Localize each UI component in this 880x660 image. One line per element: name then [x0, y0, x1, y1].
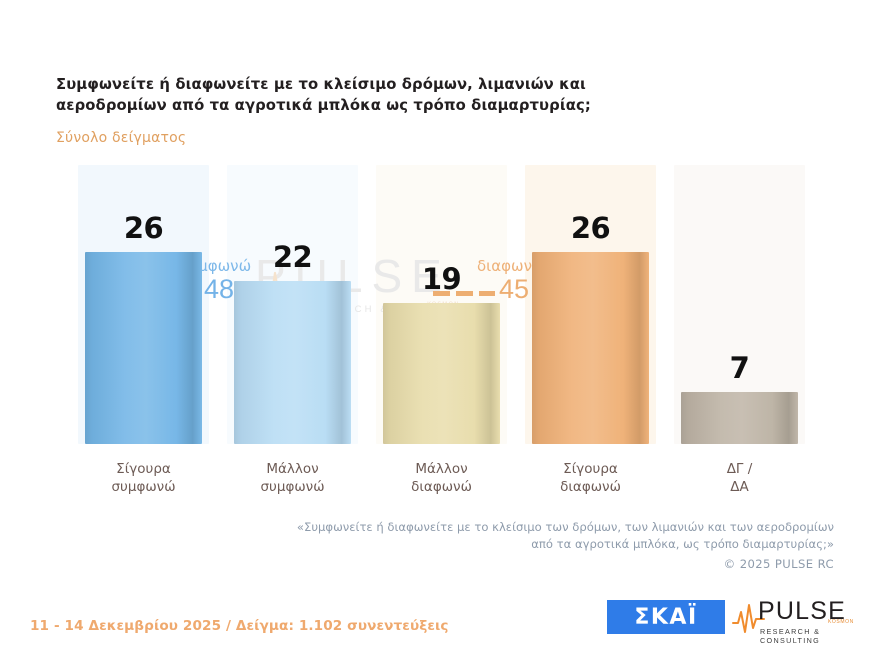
bar-value-4: 7	[681, 351, 798, 385]
bar-4[interactable]	[681, 392, 798, 444]
pulse-logo-kosmon: KOSMON	[828, 619, 854, 625]
category-label-0-line2: συμφωνώ	[78, 478, 209, 496]
category-label-1-line1: Μάλλον	[227, 460, 358, 478]
chart-plot-area: PULSE KOSMON RESEARCH & CONSULTING 48 συ…	[78, 165, 805, 444]
poll-chart-slide: Συμφωνείτε ή διαφωνείτε με το κλείσιμο δ…	[0, 0, 880, 660]
category-label-3: Σίγουρα διαφωνώ	[525, 460, 656, 496]
bracket-value-disagree: 45	[499, 274, 529, 304]
bar-value-1: 22	[234, 240, 351, 274]
title-line-2: αεροδρομίων από τα αγροτικά μπλόκα ως τρ…	[56, 95, 656, 116]
skai-logo-text: ΣΚΑΪ	[634, 605, 697, 630]
category-label-1-line2: συμφωνώ	[227, 478, 358, 496]
category-label-1: Μάλλον συμφωνώ	[227, 460, 358, 496]
category-label-2: Μάλλον διαφωνώ	[376, 460, 507, 496]
bar-0[interactable]	[85, 252, 202, 444]
copyright-text: © 2025 PULSE RC	[724, 557, 834, 571]
footnote-quote-line2: από τα αγροτικά μπλόκα, ως τρόπο διαμαρτ…	[214, 536, 834, 553]
bar-1[interactable]	[234, 281, 351, 444]
category-label-4-line2: ΔΑ	[674, 478, 805, 496]
category-label-2-line2: διαφωνώ	[376, 478, 507, 496]
category-label-4: ΔΓ / ΔΑ	[674, 460, 805, 496]
footnote-quote-line1: «Συμφωνείτε ή διαφωνείτε με το κλείσιμο …	[214, 519, 834, 536]
skai-logo[interactable]: ΣΚΑΪ	[607, 600, 725, 634]
bar-3[interactable]	[532, 252, 649, 444]
bar-value-2: 19	[383, 262, 500, 296]
category-label-3-line1: Σίγουρα	[525, 460, 656, 478]
title-line-1: Συμφωνείτε ή διαφωνείτε με το κλείσιμο δ…	[56, 76, 586, 93]
date-and-sample-text: 11 - 14 Δεκεμβρίου 2025 / Δείγμα: 1.102 …	[30, 618, 449, 634]
page-title: Συμφωνείτε ή διαφωνείτε με το κλείσιμο δ…	[56, 74, 656, 116]
subtitle: Σύνολο δείγματος	[56, 130, 186, 146]
bracket-value-agree: 48	[204, 274, 234, 304]
category-label-0-line1: Σίγουρα	[78, 460, 209, 478]
category-label-2-line1: Μάλλον	[376, 460, 507, 478]
bar-2[interactable]	[383, 303, 500, 444]
bar-value-3: 26	[532, 211, 649, 245]
category-label-4-line1: ΔΓ /	[674, 460, 805, 478]
category-label-3-line2: διαφωνώ	[525, 478, 656, 496]
pulse-logo-tagline: RESEARCH & CONSULTING	[760, 627, 868, 645]
bar-value-0: 26	[85, 211, 202, 245]
category-label-0: Σίγουρα συμφωνώ	[78, 460, 209, 496]
footnote-quote: «Συμφωνείτε ή διαφωνείτε με το κλείσιμο …	[214, 519, 834, 552]
pulse-logo[interactable]: PULSE KOSMON RESEARCH & CONSULTING	[736, 598, 868, 638]
